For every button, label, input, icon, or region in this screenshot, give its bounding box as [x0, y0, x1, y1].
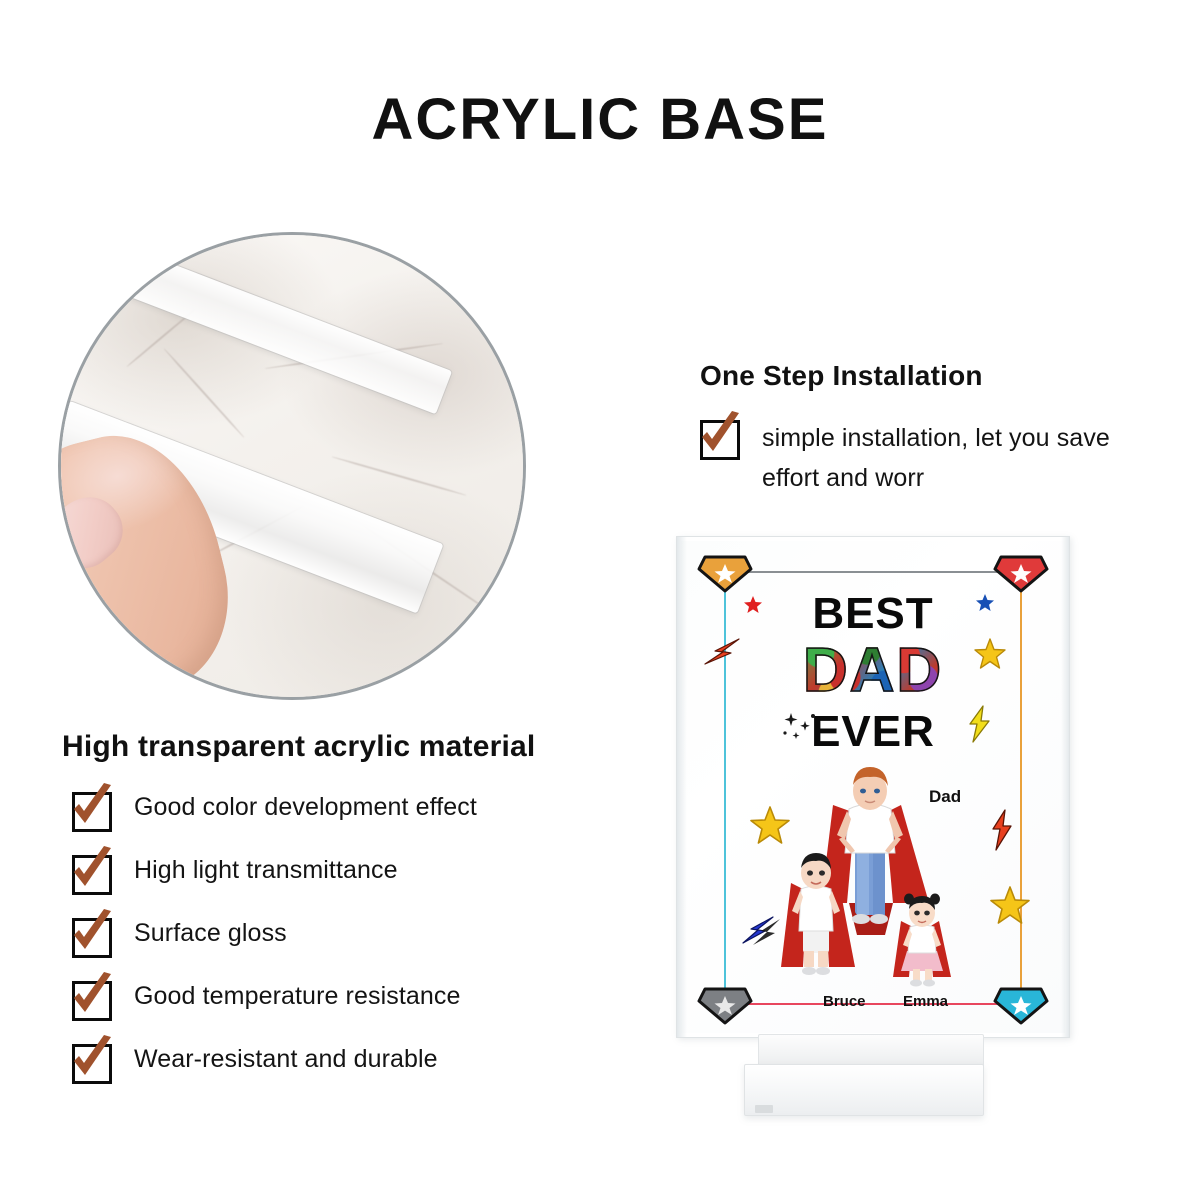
checkmark-icon [72, 918, 112, 958]
lightning-bolt-icon-yellow [965, 705, 993, 748]
list-item-label: Good color development effect [134, 790, 477, 824]
shield-badge-bottom-right-icon [993, 983, 1049, 1027]
checkmark-icon [72, 1044, 112, 1084]
product-photo-circle [58, 232, 526, 700]
artwork-line-ever: EVER [677, 707, 1069, 757]
lightning-bolt-icon-orange [703, 637, 741, 672]
acrylic-panel: BEST DAD EVER [676, 536, 1070, 1038]
name-label-child-2: Emma [903, 993, 948, 1010]
installation-check-list: simple installation, let you save effort… [700, 418, 1170, 518]
installation-heading: One Step Installation [700, 360, 983, 392]
list-item: Wear-resistant and durable [72, 1042, 592, 1084]
thumbnail [58, 484, 135, 582]
frame-line-bottom [725, 1003, 1021, 1005]
frame-line-top [725, 571, 1021, 573]
material-check-list: Good color development effect High light… [72, 790, 592, 1105]
stand-slot [755, 1105, 773, 1113]
list-item-label: High light transmittance [134, 853, 398, 887]
star-icon-gold-upper [973, 637, 1007, 676]
figure-girl [893, 894, 951, 987]
material-heading: High transparent acrylic material [62, 730, 535, 764]
stand-front-face [744, 1064, 984, 1116]
list-item-label: Good temperature resistance [134, 979, 460, 1013]
list-item-label: simple installation, let you save effort… [762, 418, 1170, 498]
name-label-child-1: Bruce [823, 993, 866, 1010]
artwork-dad-text: DAD [803, 636, 943, 705]
checkmark-icon [72, 981, 112, 1021]
name-label-parent: Dad [929, 787, 961, 807]
page-title: ACRYLIC BASE [0, 86, 1200, 153]
list-item: Surface gloss [72, 916, 592, 958]
finger-crease [58, 628, 107, 630]
list-item: simple installation, let you save effort… [700, 418, 1170, 498]
star-icon-blue [975, 593, 995, 618]
acrylic-stand-base [744, 1034, 992, 1122]
list-item: High light transmittance [72, 853, 592, 895]
list-item-label: Wear-resistant and durable [134, 1042, 438, 1076]
finger-crease [58, 652, 111, 657]
list-item-label: Surface gloss [134, 916, 287, 950]
checkmark-icon [72, 855, 112, 895]
product-plaque: BEST DAD EVER [668, 536, 1080, 1146]
finger-crease [58, 600, 104, 605]
shield-badge-bottom-left-icon [697, 983, 753, 1027]
list-item: Good color development effect [72, 790, 592, 832]
artwork-line-best: BEST [677, 589, 1069, 639]
star-icon-gold-lower-right [989, 885, 1031, 932]
checkmark-icon [72, 792, 112, 832]
star-icon-red [743, 595, 763, 620]
list-item: Good temperature resistance [72, 979, 592, 1021]
sparkles-icon [779, 709, 825, 748]
checkmark-icon [700, 420, 740, 460]
